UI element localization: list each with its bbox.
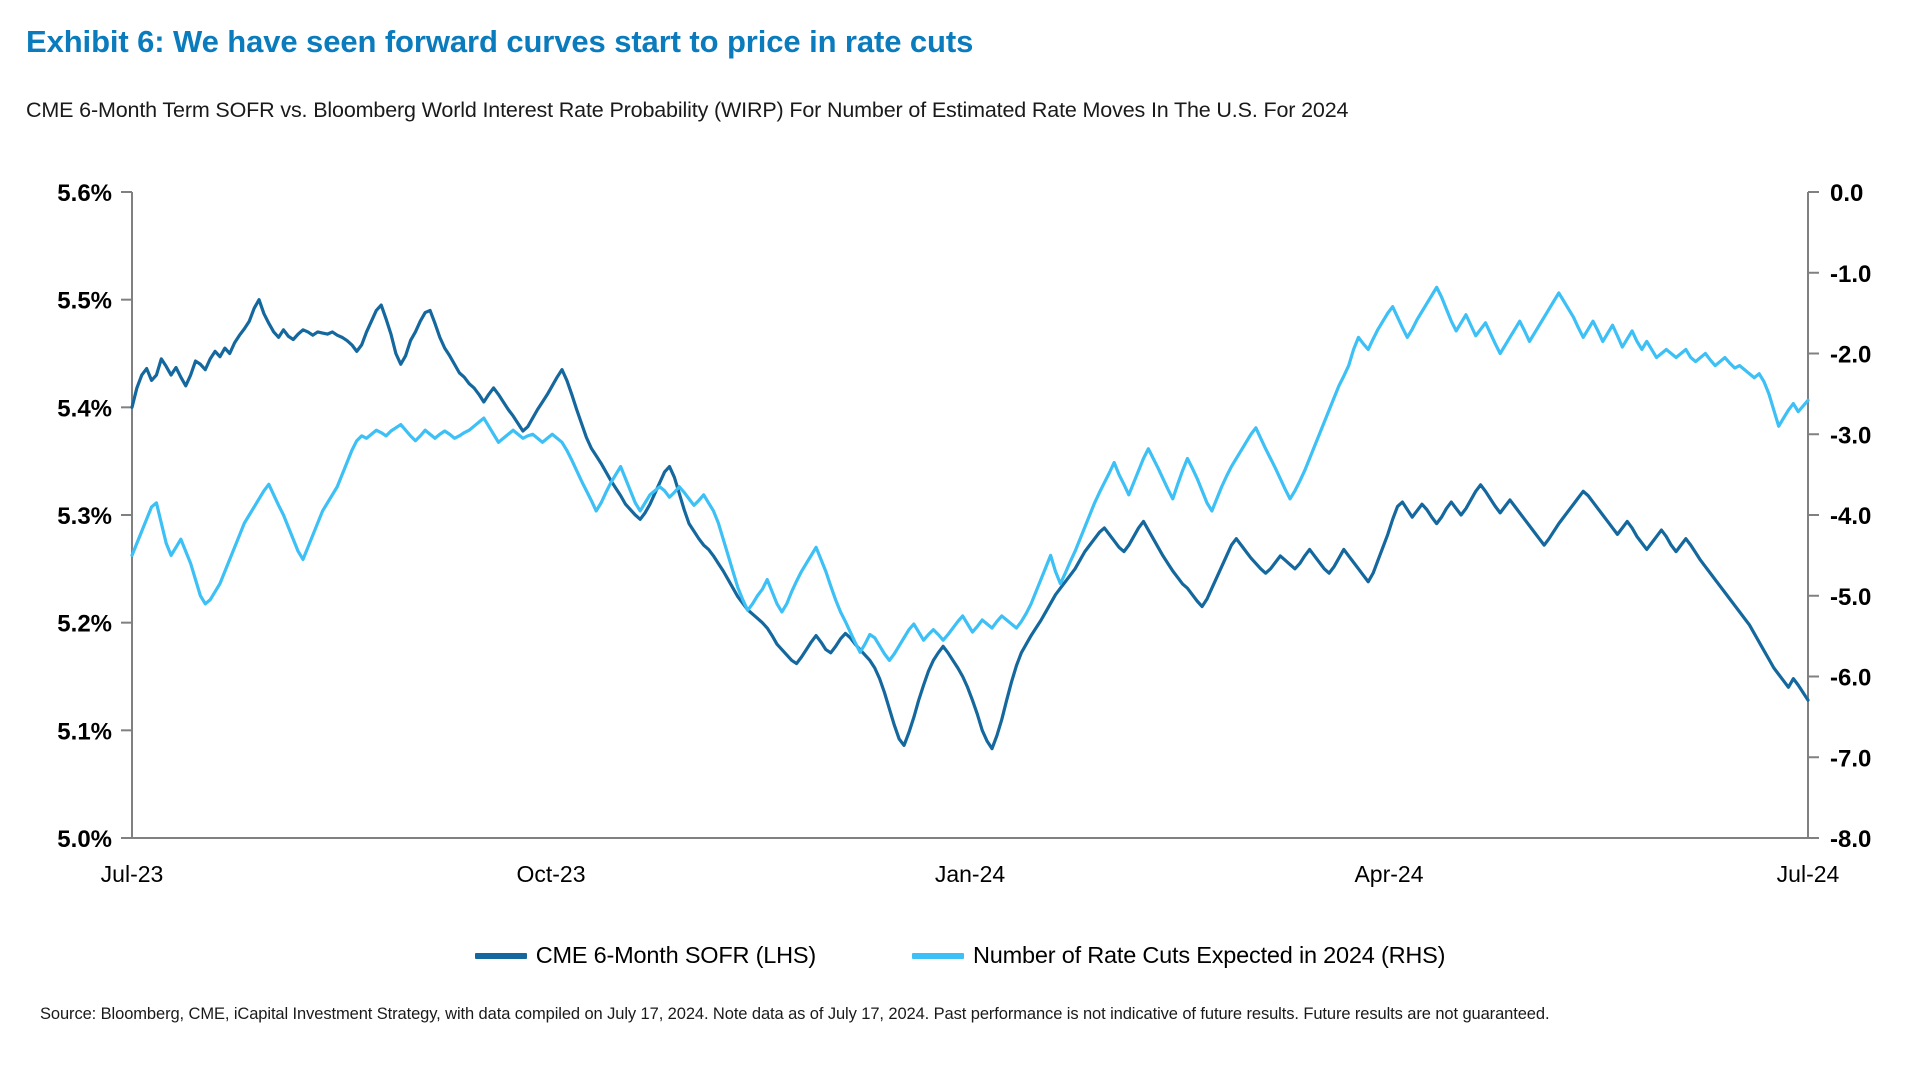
left-tick-label: 5.5% (57, 288, 112, 315)
source-note: Source: Bloomberg, CME, iCapital Investm… (40, 1003, 1890, 1025)
legend-item-sofr[interactable]: CME 6-Month SOFR (LHS) (475, 942, 816, 969)
right-axis-ticks: 0.0-1.0-2.0-3.0-4.0-5.0-6.0-7.0-8.0 (1808, 180, 1871, 853)
series-line-rate-cuts (132, 287, 1808, 660)
legend-swatch-rate-cuts (912, 953, 964, 959)
series-lines (132, 287, 1808, 748)
x-axis-ticks: Jul-23Oct-23Jan-24Apr-24Jul-24 (101, 861, 1840, 887)
left-tick-label: 5.3% (57, 503, 112, 530)
left-tick-label: 5.1% (57, 718, 112, 745)
legend-label-sofr: CME 6-Month SOFR (LHS) (536, 942, 816, 969)
legend-item-rate-cuts[interactable]: Number of Rate Cuts Expected in 2024 (RH… (912, 942, 1445, 969)
right-tick-label: -4.0 (1830, 503, 1871, 530)
series-line-sofr (132, 300, 1808, 749)
left-tick-label: 5.4% (57, 395, 112, 422)
right-tick-label: -2.0 (1830, 342, 1871, 369)
x-tick-label: Jul-24 (1777, 861, 1840, 887)
left-tick-label: 5.6% (57, 180, 112, 207)
chart-plot-area: 5.0%5.1%5.2%5.3%5.4%5.5%5.6% 0.0-1.0-2.0… (0, 170, 1920, 900)
x-tick-label: Oct-23 (516, 861, 585, 887)
right-tick-label: -3.0 (1830, 422, 1871, 449)
legend-label-rate-cuts: Number of Rate Cuts Expected in 2024 (RH… (973, 942, 1445, 969)
right-tick-label: 0.0 (1830, 180, 1863, 207)
x-tick-label: Jan-24 (935, 861, 1006, 887)
line-chart-svg: 5.0%5.1%5.2%5.3%5.4%5.5%5.6% 0.0-1.0-2.0… (0, 170, 1920, 900)
left-tick-label: 5.2% (57, 611, 112, 638)
page-title: Exhibit 6: We have seen forward curves s… (26, 24, 973, 60)
x-tick-label: Jul-23 (101, 861, 164, 887)
right-tick-label: -5.0 (1830, 584, 1871, 611)
axis-lines (132, 192, 1808, 838)
right-tick-label: -6.0 (1830, 665, 1871, 692)
chart-page: Exhibit 6: We have seen forward curves s… (0, 0, 1920, 1080)
left-axis-ticks: 5.0%5.1%5.2%5.3%5.4%5.5%5.6% (57, 180, 132, 853)
right-tick-label: -8.0 (1830, 826, 1871, 853)
chart-legend: CME 6-Month SOFR (LHS) Number of Rate Cu… (0, 942, 1920, 969)
chart-subtitle: CME 6-Month Term SOFR vs. Bloomberg Worl… (26, 98, 1348, 123)
right-tick-label: -7.0 (1830, 745, 1871, 772)
x-tick-label: Apr-24 (1354, 861, 1423, 887)
legend-swatch-sofr (475, 953, 527, 959)
right-tick-label: -1.0 (1830, 261, 1871, 288)
left-tick-label: 5.0% (57, 826, 112, 853)
